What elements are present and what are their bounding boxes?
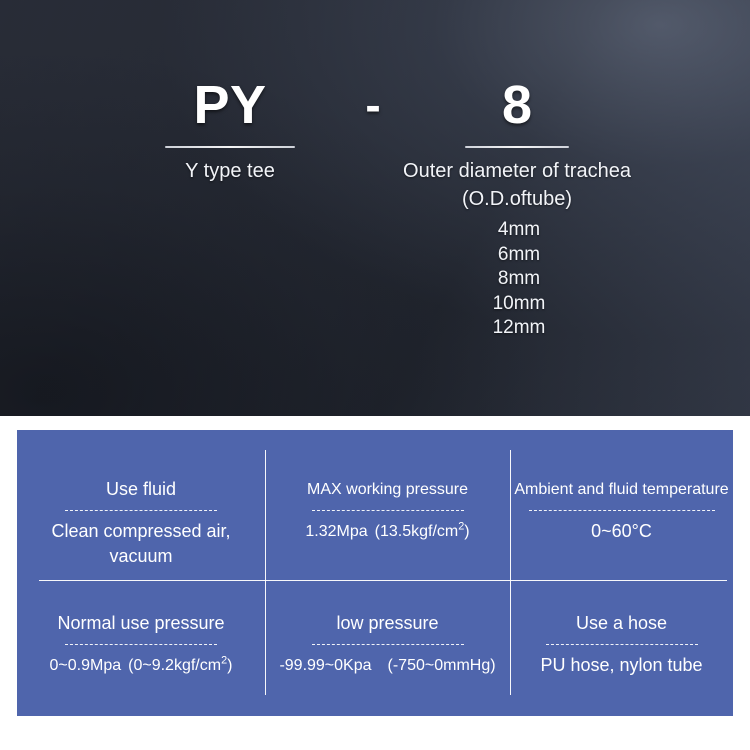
product-code-row: PY - 8 [0, 72, 750, 152]
spec-cell-use-fluid: Use fluid Clean compressed air, vacuum [17, 430, 265, 580]
table-vertical-divider-1 [265, 450, 266, 695]
spec-value: -99.99~0Kpa (-750~0mmHg) [279, 653, 495, 678]
spec-value: 0~0.9Mpa(0~9.2kgf/cm2) [50, 653, 233, 678]
spec-dashed-divider [312, 644, 464, 645]
spec-dashed-divider [65, 510, 217, 511]
hero-panel: PY - 8 Y type tee Outer diameter of trac… [0, 0, 750, 416]
spec-dashed-divider [65, 644, 217, 645]
table-vertical-divider-2 [510, 450, 511, 695]
spec-title: low pressure [336, 612, 438, 635]
spec-value: 1.32Mpa(13.5kgf/cm2) [305, 519, 469, 544]
spec-value: Clean compressed air, vacuum [23, 519, 259, 569]
product-series-code: PY [165, 72, 295, 138]
spec-title: Use a hose [576, 612, 667, 635]
size-option-list: 4mm 6mm 8mm 10mm 12mm [410, 218, 628, 341]
size-label: Outer diameter of trachea [403, 160, 631, 182]
size-label-group: Outer diameter of trachea (O.D.oftube) [372, 157, 662, 213]
spec-title: Normal use pressure [57, 612, 224, 635]
spec-value-paren: (13.5kgf/cm [375, 523, 459, 540]
spec-value-paren: (0~9.2kgf/cm [128, 657, 221, 674]
size-option: 8mm [410, 267, 628, 292]
specification-table: Use fluid Clean compressed air, vacuum M… [17, 430, 733, 716]
size-option: 12mm [410, 316, 628, 341]
spec-value: 0~60°C [591, 519, 652, 544]
series-underline [165, 146, 295, 148]
spec-cell-max-working-pressure: MAX working pressure 1.32Mpa(13.5kgf/cm2… [265, 430, 510, 580]
product-size-code: 8 [465, 72, 569, 138]
spec-cell-low-pressure: low pressure -99.99~0Kpa (-750~0mmHg) [265, 580, 510, 716]
spec-title: Use fluid [106, 478, 176, 501]
spec-value-close: ) [464, 523, 469, 540]
size-sublabel: (O.D.oftube) [372, 185, 662, 213]
size-option: 4mm [410, 218, 628, 243]
size-underline [465, 146, 569, 148]
spec-value-main: 0~0.9Mpa [50, 657, 122, 674]
spec-dashed-divider [546, 644, 698, 645]
spec-value-main: 1.32Mpa [305, 523, 367, 540]
size-option: 10mm [410, 292, 628, 317]
series-label: Y type tee [120, 157, 340, 185]
spec-dashed-divider [529, 510, 715, 511]
spec-value: PU hose, nylon tube [540, 653, 702, 678]
spec-cell-ambient-temperature: Ambient and fluid temperature 0~60°C [510, 430, 733, 580]
spec-dashed-divider [312, 510, 464, 511]
size-option: 6mm [410, 243, 628, 268]
hero-content: PY - 8 Y type tee Outer diameter of trac… [0, 0, 750, 416]
table-horizontal-divider [39, 580, 727, 581]
spec-cell-use-a-hose: Use a hose PU hose, nylon tube [510, 580, 733, 716]
spec-value-close: ) [227, 657, 232, 674]
code-separator-dash: - [345, 72, 401, 138]
spec-title: Ambient and fluid temperature [514, 478, 728, 501]
spec-title: MAX working pressure [307, 478, 468, 501]
spec-cell-normal-use-pressure: Normal use pressure 0~0.9Mpa(0~9.2kgf/cm… [17, 580, 265, 716]
